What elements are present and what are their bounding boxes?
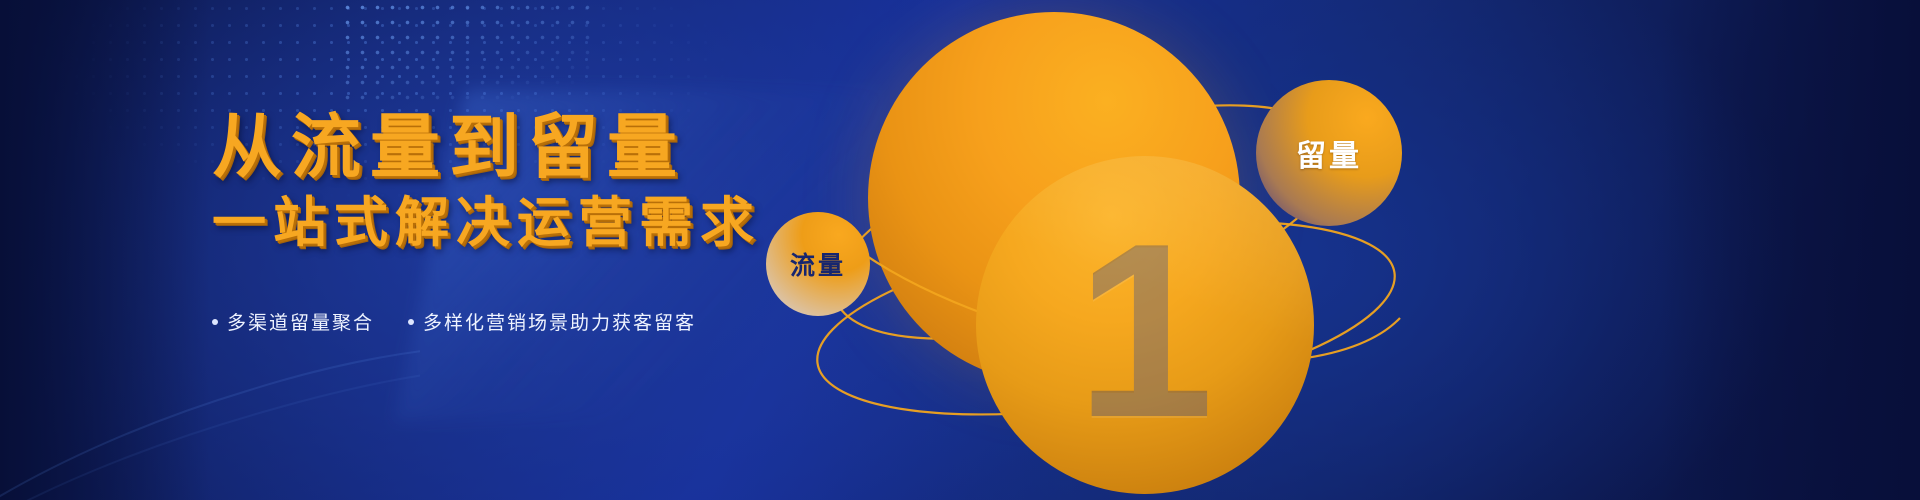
sphere-label-text: 流量: [790, 246, 846, 282]
promo-banner: 从流量到留量 一站式解决运营需求 多渠道留量聚合 多样化营销场景助力获客留客 1…: [0, 0, 1920, 500]
headline-primary: 从流量到留量: [212, 108, 732, 186]
sphere-large-lower: [976, 156, 1314, 494]
bullet-dot-icon: [408, 319, 414, 325]
sphere-label-retention: 留量: [1256, 80, 1402, 226]
left-edge-vignette: [0, 0, 210, 500]
hero-illustration: 1 流量 留量: [700, 0, 1920, 500]
list-item: 多渠道留量聚合: [212, 308, 374, 335]
sphere-label-text: 留量: [1296, 131, 1362, 175]
headline-block: 从流量到留量 一站式解决运营需求: [212, 108, 732, 254]
bullet-label: 多样化营销场景助力获客留客: [423, 308, 696, 335]
bullet-dot-icon: [212, 319, 218, 325]
corner-swoosh-decoration: [0, 270, 420, 500]
feature-bullet-list: 多渠道留量聚合 多样化营销场景助力获客留客: [212, 308, 732, 335]
list-item: 多样化营销场景助力获客留客: [408, 308, 696, 335]
headline-secondary: 一站式解决运营需求: [212, 192, 732, 254]
orbit-ring-front: [700, 0, 1920, 500]
bullet-label: 多渠道留量聚合: [227, 308, 374, 335]
sphere-label-liuliang: 流量: [766, 212, 870, 316]
dot-grid-pattern-dense: [340, 0, 600, 110]
